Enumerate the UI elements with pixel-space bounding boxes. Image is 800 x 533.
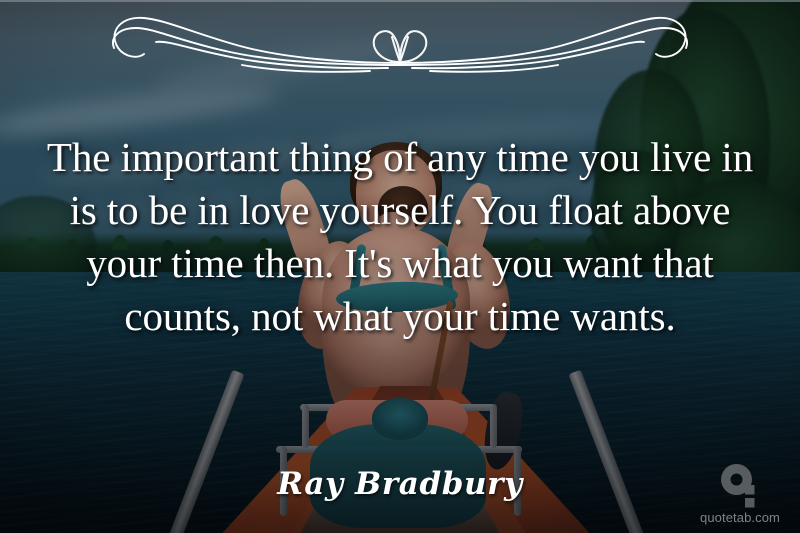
watermark[interactable]: quotetab.com [692, 463, 788, 525]
quote-author: Ray Bradbury [0, 466, 800, 502]
quote-text: The important thing of any time you live… [40, 131, 760, 343]
quote-image: The important thing of any time you live… [0, 0, 800, 533]
decorative-flourish-icon [70, 6, 730, 90]
watermark-site: quotetab.com [692, 510, 788, 525]
top-edge-line [0, 0, 800, 2]
quotetab-q-logo-icon [720, 463, 760, 509]
